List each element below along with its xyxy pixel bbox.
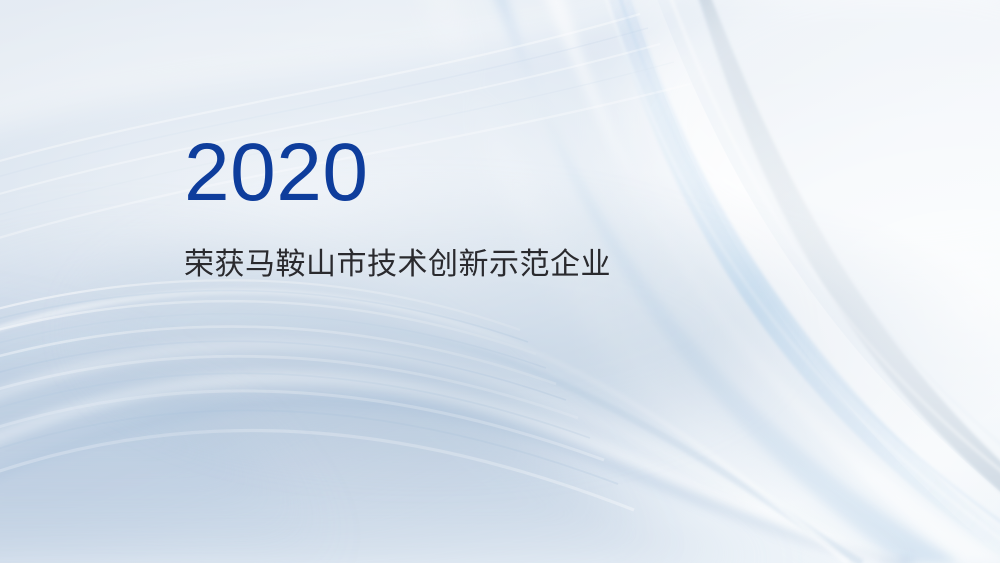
slide-text-block: 2020 荣获马鞍山市技术创新示范企业: [184, 132, 804, 283]
presentation-slide: 2020 荣获马鞍山市技术创新示范企业: [0, 0, 1000, 563]
year-heading: 2020: [184, 132, 804, 214]
slide-subtitle: 荣获马鞍山市技术创新示范企业: [184, 248, 804, 283]
